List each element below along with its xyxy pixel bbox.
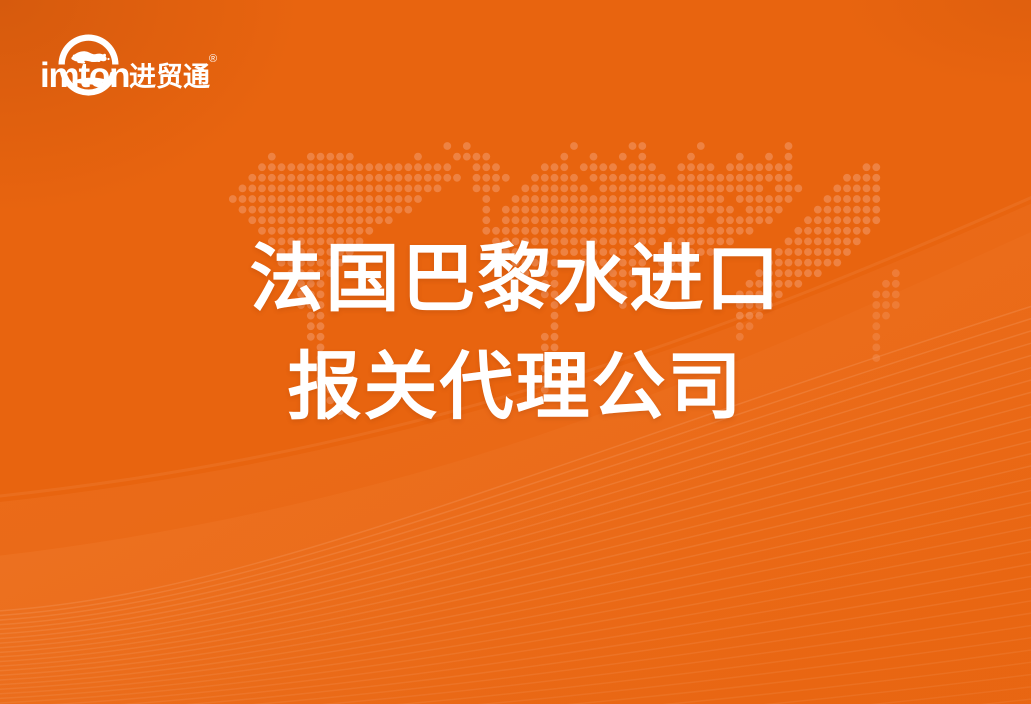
brand-logo[interactable]: imton 进贸通 ® <box>38 24 223 104</box>
logo-chinese-name: 进贸通 <box>129 62 210 92</box>
banner-canvas: imton 进贸通 ® 法国巴黎水进口 报关代理公司 <box>0 0 1031 704</box>
headline-line-1: 法国巴黎水进口 <box>0 242 1031 316</box>
headline-line-2: 报关代理公司 <box>0 350 1031 424</box>
trademark-symbol: ® <box>209 53 217 65</box>
page-title: 法国巴黎水进口 报关代理公司 <box>0 242 1031 424</box>
logo-wordmark: imton <box>40 56 129 95</box>
